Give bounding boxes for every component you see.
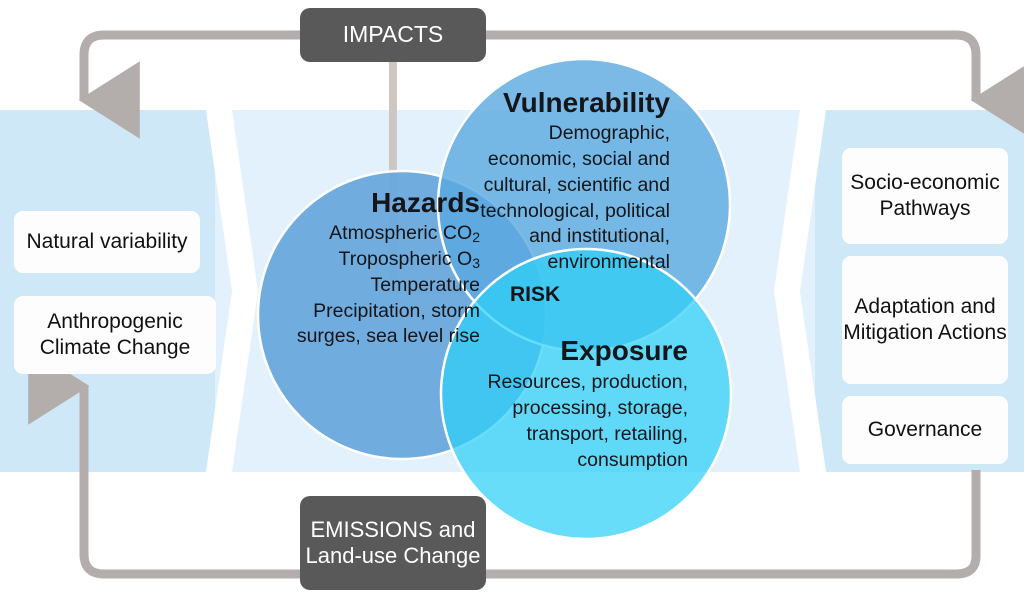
card-governance[interactable]: Governance bbox=[842, 396, 1008, 464]
venn-title-exposure: Exposure bbox=[452, 336, 688, 367]
card-adaptation-mitigation-actions[interactable]: Adaptation and Mitigation Actions bbox=[842, 256, 1008, 384]
venn-title-vulnerability: Vulnerability bbox=[470, 88, 670, 119]
venn-label-hazards: Hazards Atmospheric CO2Tropospheric O3Te… bbox=[268, 188, 480, 350]
card-socio-economic-pathways[interactable]: Socio-economic Pathways bbox=[842, 148, 1008, 244]
venn-label-risk: RISK bbox=[510, 283, 560, 307]
venn-body-vulnerability: Demographic,economic, social andcultural… bbox=[470, 121, 670, 277]
venn-label-exposure: Exposure Resources, production,processin… bbox=[452, 336, 688, 473]
impacts-box[interactable]: IMPACTS bbox=[300, 8, 486, 62]
venn-body-exposure: Resources, production,processing, storag… bbox=[452, 370, 688, 474]
venn-title-hazards: Hazards bbox=[268, 188, 480, 219]
venn-body-hazards: Atmospheric CO2Tropospheric O3Temperatur… bbox=[268, 221, 480, 351]
diagram-canvas: Hazards Atmospheric CO2Tropospheric O3Te… bbox=[0, 0, 1024, 598]
card-anthropogenic-climate-change[interactable]: Anthropogenic Climate Change bbox=[14, 296, 216, 374]
venn-label-vulnerability: Vulnerability Demographic,economic, soci… bbox=[470, 88, 670, 276]
card-natural-variability[interactable]: Natural variability bbox=[14, 211, 200, 273]
emissions-box[interactable]: EMISSIONS and Land-use Change bbox=[300, 496, 486, 590]
